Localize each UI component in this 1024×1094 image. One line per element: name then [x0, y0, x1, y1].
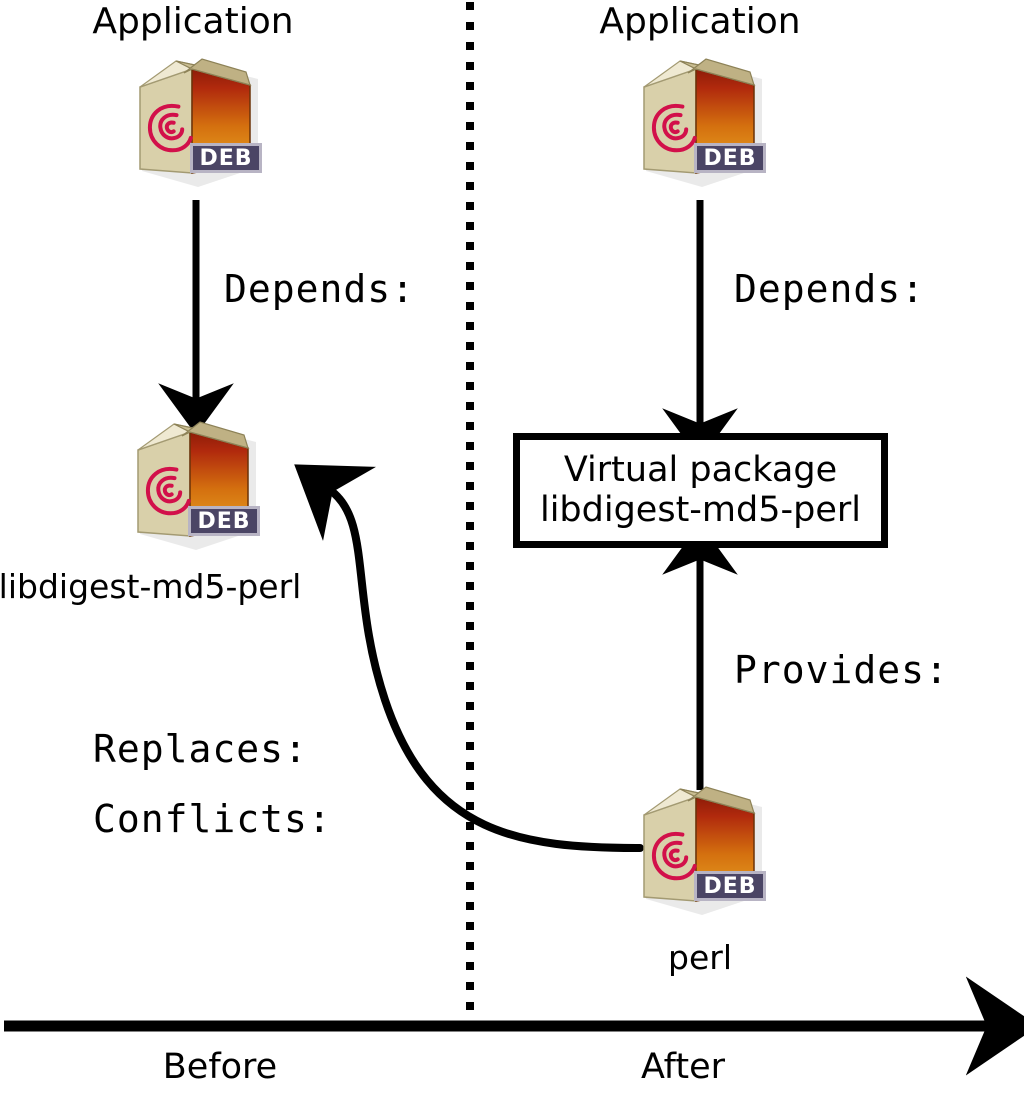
package-label-libdigest-md5-perl: libdigest-md5-perl — [0, 570, 301, 603]
deb-badge-icon: DEB — [188, 506, 260, 536]
debian-package-icon: DEB — [118, 418, 276, 554]
relation-label-provides: Provides: — [734, 651, 949, 689]
virtual-package-line1: Virtual package — [564, 451, 837, 490]
deb-badge-icon: DEB — [694, 871, 766, 901]
package-label-perl: perl — [668, 941, 732, 974]
virtual-package-box[interactable]: Virtual package libdigest-md5-perl — [513, 433, 888, 548]
package-icon-libdigest-md5-perl[interactable]: DEB — [118, 418, 276, 554]
axis-label-before: Before — [163, 1050, 277, 1085]
deb-badge-icon: DEB — [694, 143, 766, 173]
package-icon-perl[interactable]: DEB — [624, 783, 782, 919]
relation-label-depends-before: Depends: — [224, 270, 415, 308]
package-icon-app-before[interactable]: DEB — [120, 55, 278, 191]
svg-text:DEB: DEB — [197, 509, 250, 534]
deb-badge-icon: DEB — [190, 143, 262, 173]
debian-package-icon: DEB — [624, 783, 782, 919]
svg-text:DEB: DEB — [703, 146, 756, 171]
debian-package-icon: DEB — [624, 55, 782, 191]
relation-label-depends-after: Depends: — [734, 270, 925, 308]
column-header-after: Application — [599, 4, 800, 40]
column-header-before: Application — [92, 4, 293, 40]
svg-text:DEB: DEB — [703, 874, 756, 899]
package-icon-app-after[interactable]: DEB — [624, 55, 782, 191]
debian-package-icon: DEB — [120, 55, 278, 191]
svg-text:DEB: DEB — [199, 146, 252, 171]
axis-label-after: After — [641, 1050, 725, 1085]
diagram-canvas: Application Application — [0, 0, 1024, 1094]
virtual-package-line2: libdigest-md5-perl — [540, 491, 861, 530]
relation-label-conflicts: Conflicts: — [93, 800, 332, 838]
relation-label-replaces: Replaces: — [93, 730, 308, 768]
